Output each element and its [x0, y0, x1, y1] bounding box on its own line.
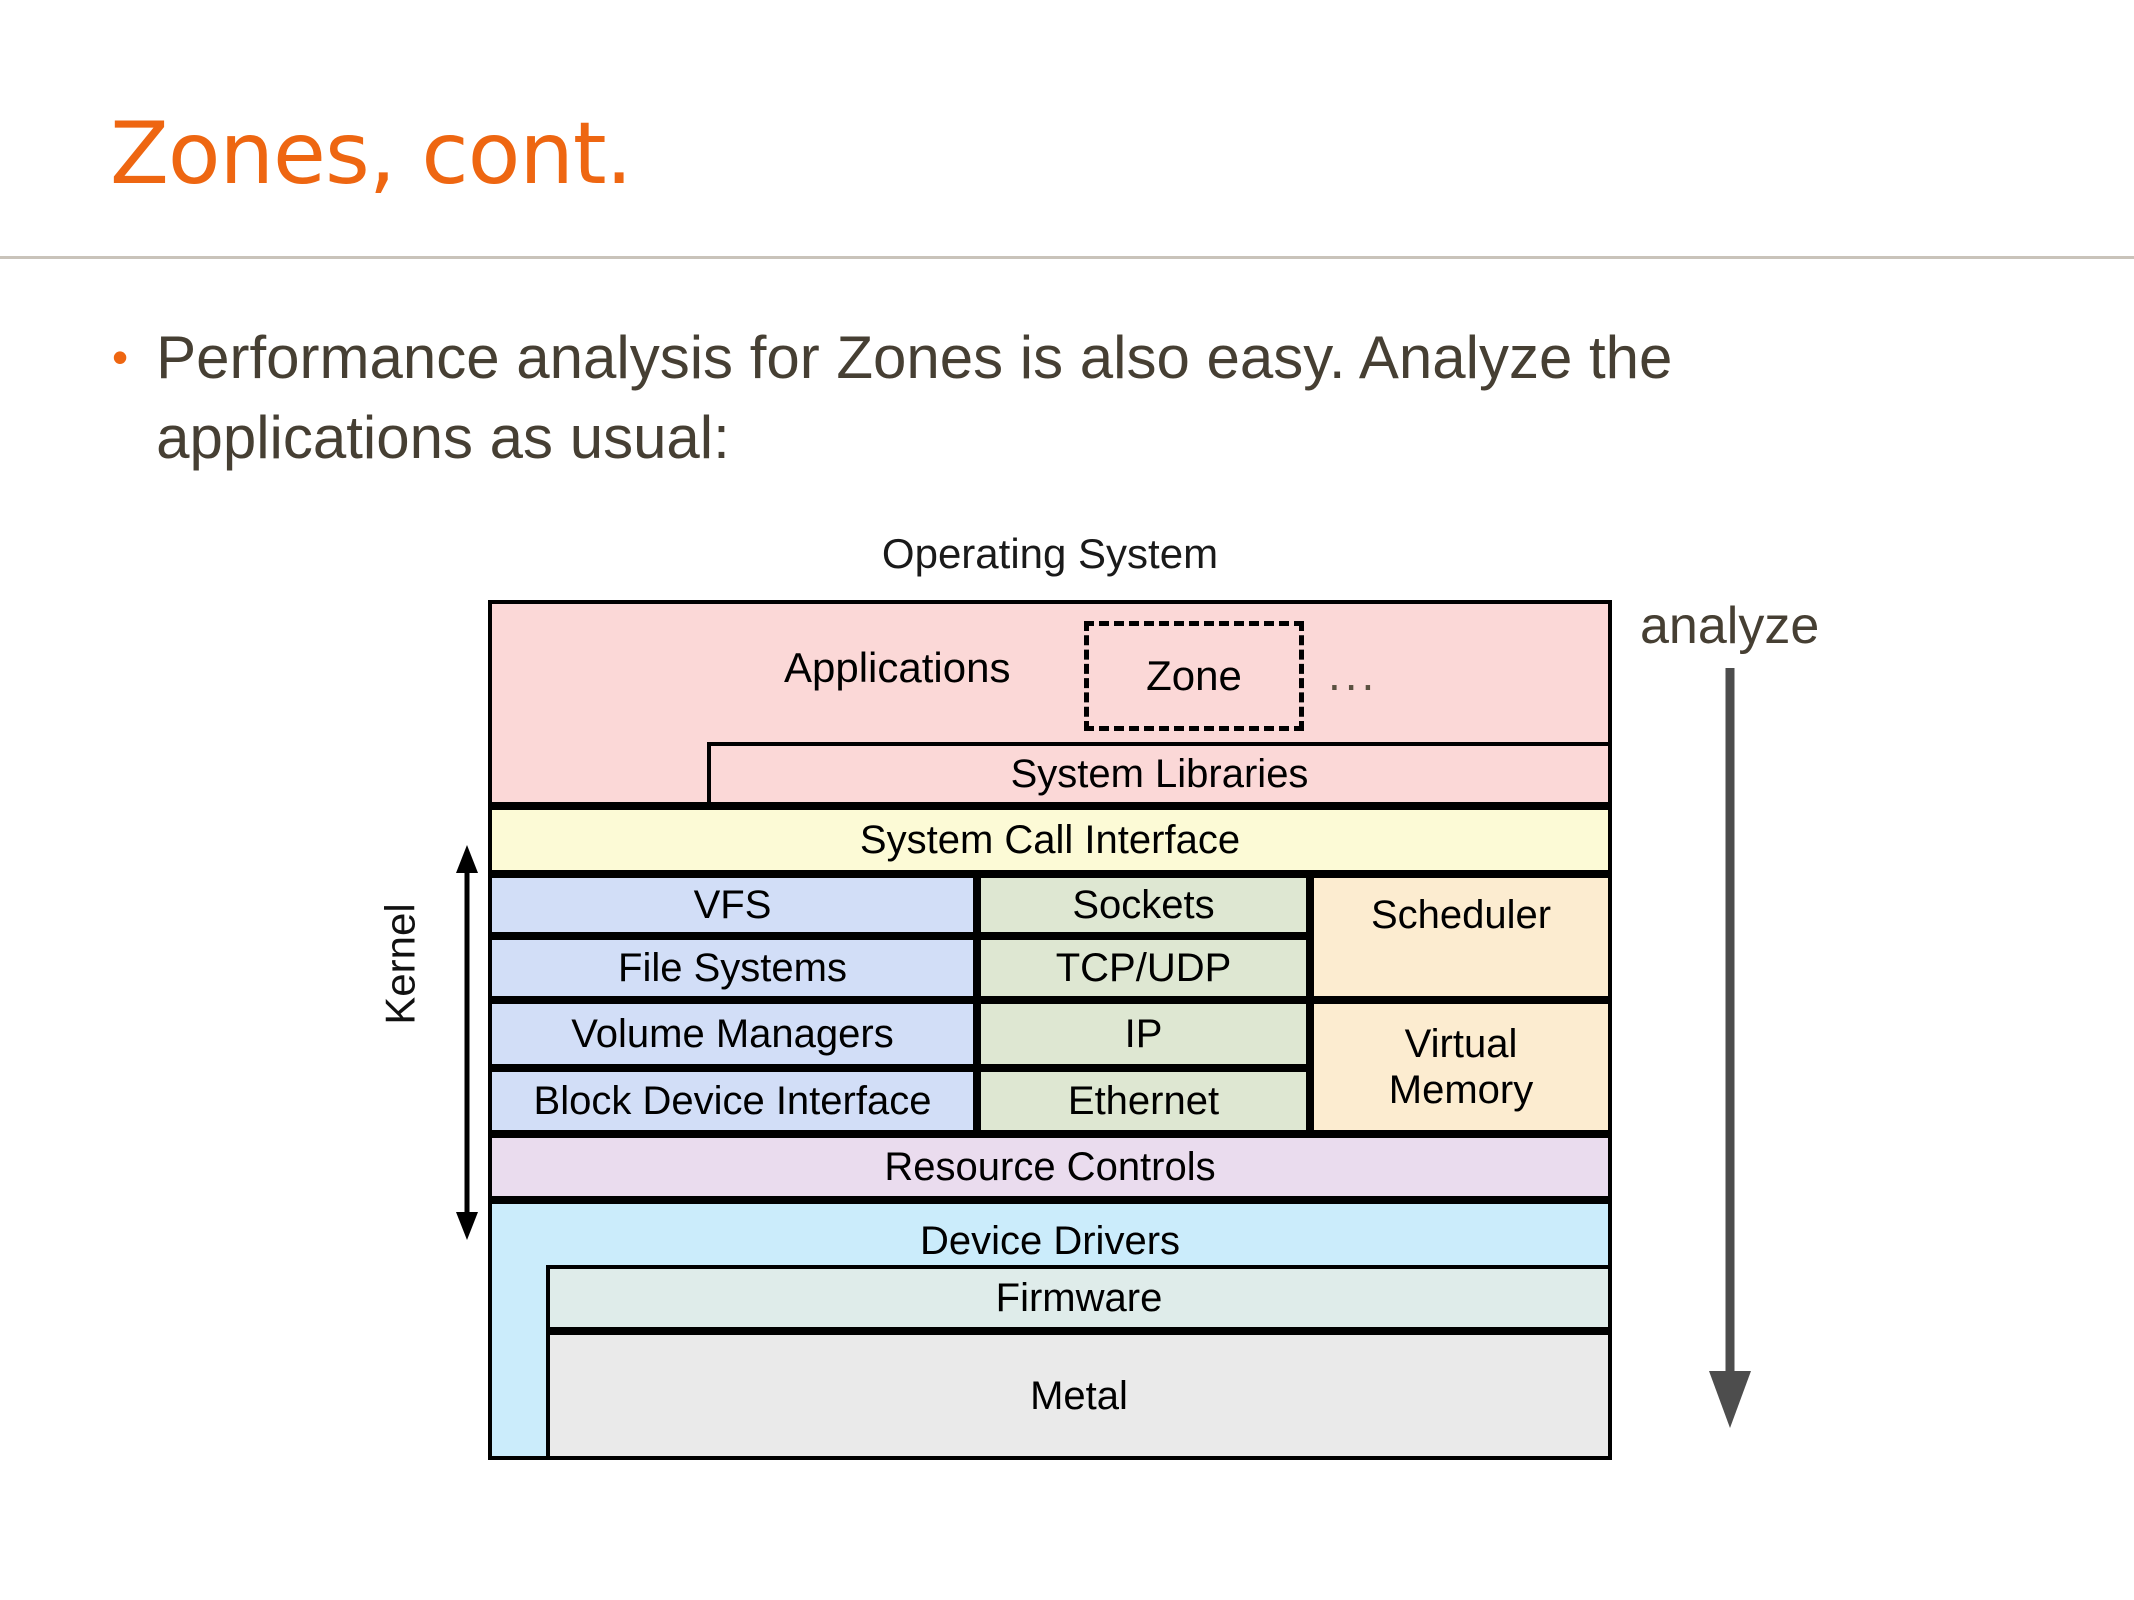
- metal-label: Metal: [1030, 1373, 1128, 1419]
- virtual-memory-label-line1: Virtual: [1405, 1021, 1518, 1067]
- analyze-arrow: [1700, 668, 1760, 1428]
- analyze-label: analyze: [1640, 596, 1819, 656]
- ethernet-box: Ethernet: [977, 1068, 1310, 1134]
- device-drivers-label: Device Drivers: [920, 1218, 1180, 1264]
- operating-system-label: Operating System: [488, 530, 1612, 578]
- zone-box: Zone: [1084, 621, 1304, 731]
- tcp-udp-label: TCP/UDP: [1056, 945, 1232, 991]
- virtual-memory-label-line2: Memory: [1389, 1067, 1533, 1113]
- applications-label: Applications: [784, 644, 1010, 692]
- sockets-box: Sockets: [977, 874, 1310, 936]
- page-title: Zones, cont.: [110, 104, 632, 204]
- ethernet-label: Ethernet: [1068, 1078, 1219, 1124]
- file-systems-label: File Systems: [618, 945, 847, 991]
- list-item: • Performance analysis for Zones is also…: [112, 318, 2012, 478]
- block-device-interface-label: Block Device Interface: [534, 1078, 932, 1124]
- file-systems-box: File Systems: [488, 936, 977, 1000]
- kernel-span-arrow: [452, 845, 482, 1240]
- volume-managers-label: Volume Managers: [571, 1011, 893, 1057]
- vfs-box: VFS: [488, 874, 977, 936]
- firmware-box: Firmware: [546, 1265, 1612, 1331]
- volume-managers-box: Volume Managers: [488, 1000, 977, 1068]
- kernel-label: Kernel: [377, 903, 425, 1024]
- scheduler-box: Scheduler: [1310, 874, 1612, 1000]
- resource-controls-label: Resource Controls: [884, 1144, 1215, 1190]
- vfs-label: VFS: [694, 882, 772, 928]
- zone-label: Zone: [1146, 652, 1242, 700]
- title-divider: [0, 256, 2134, 259]
- resource-controls-box: Resource Controls: [488, 1134, 1612, 1200]
- block-device-interface-box: Block Device Interface: [488, 1068, 977, 1134]
- bullet-text: Performance analysis for Zones is also e…: [156, 318, 1906, 478]
- system-libraries-box: System Libraries: [707, 742, 1612, 806]
- sockets-label: Sockets: [1072, 882, 1214, 928]
- bullet-point-icon: •: [112, 318, 128, 396]
- os-stack-diagram: Applications Zone ... System Libraries S…: [488, 600, 1612, 1460]
- zone-ellipsis-label: ...: [1328, 648, 1378, 701]
- tcp-udp-box: TCP/UDP: [977, 936, 1310, 1000]
- system-call-interface-box: System Call Interface: [488, 806, 1612, 874]
- ip-box: IP: [977, 1000, 1310, 1068]
- firmware-label: Firmware: [996, 1275, 1163, 1321]
- metal-box: Metal: [546, 1331, 1612, 1460]
- system-libraries-label: System Libraries: [1011, 751, 1309, 797]
- scheduler-label: Scheduler: [1371, 892, 1551, 938]
- virtual-memory-box: Virtual Memory: [1310, 1000, 1612, 1134]
- bullet-list: • Performance analysis for Zones is also…: [112, 318, 2012, 478]
- system-call-interface-label: System Call Interface: [860, 817, 1240, 863]
- ip-label: IP: [1125, 1011, 1163, 1057]
